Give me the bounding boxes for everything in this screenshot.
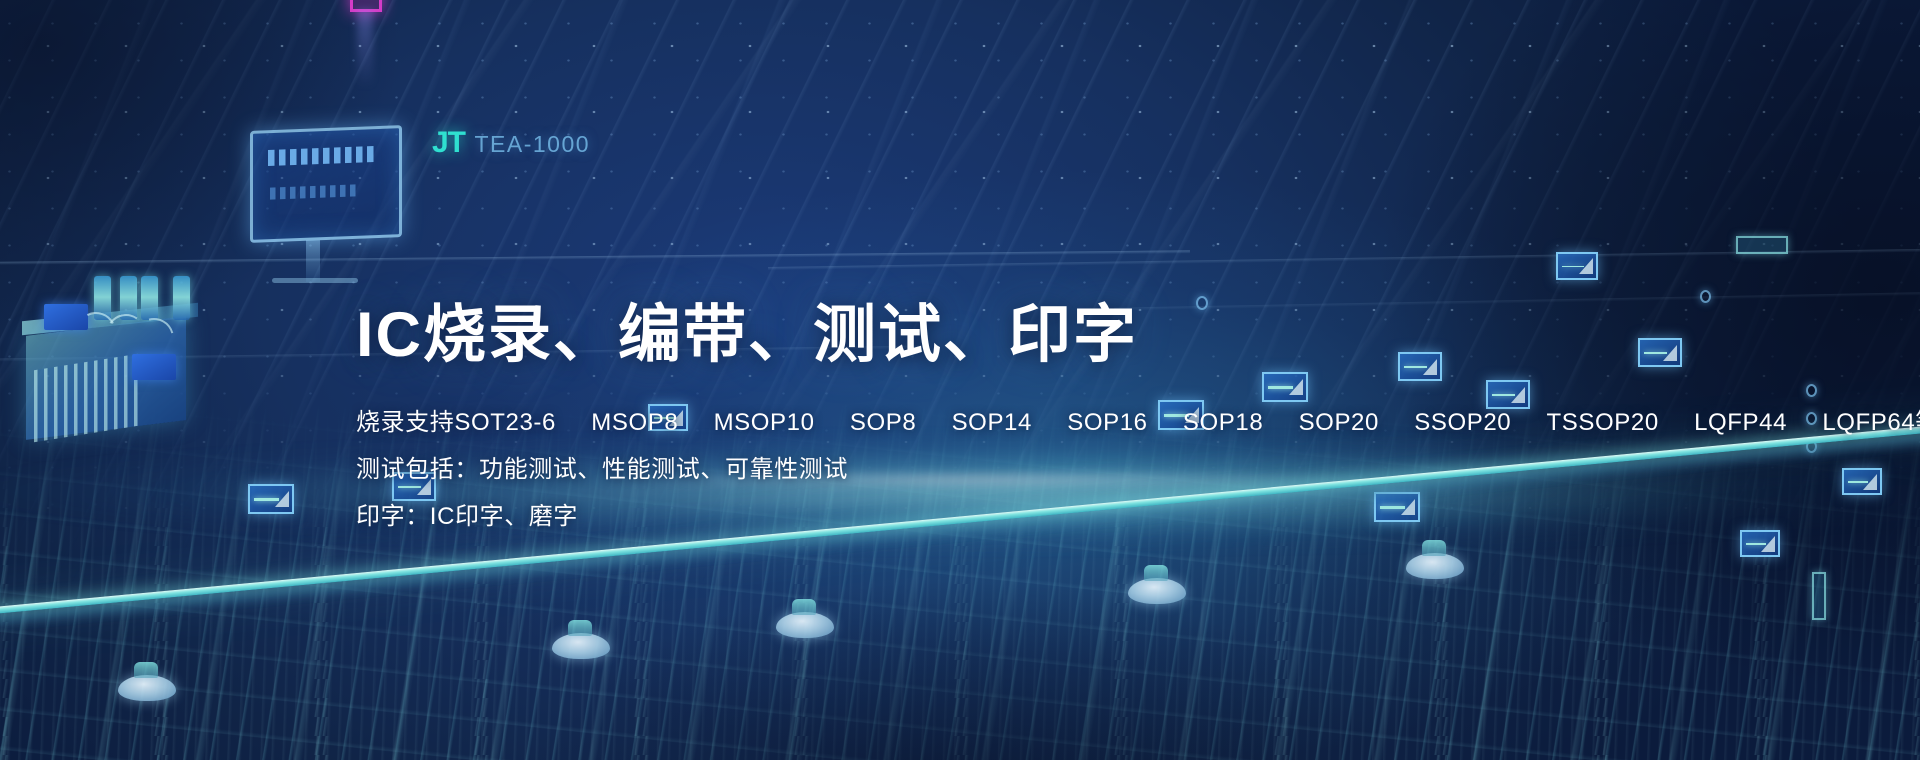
floating-screen-icon [248, 484, 294, 514]
package-lqfp44: LQFP44 [1694, 411, 1787, 435]
package-msop8: MSOP8 [591, 411, 678, 435]
package-sop16: SOP16 [1067, 411, 1147, 435]
monitor-screen-bars [268, 146, 374, 166]
machine-hose [127, 311, 182, 366]
floating-screen-icon [1842, 468, 1882, 495]
machine-module-block [132, 354, 176, 380]
floating-screen-icon [1740, 530, 1780, 557]
machine-fins [34, 354, 138, 442]
industrial-machine-graphic [8, 268, 216, 456]
subline-testing-scope: 测试包括：功能测试、性能测试、可靠性测试 [356, 458, 1616, 482]
package-msop10: MSOP10 [714, 411, 815, 435]
machine-module-block [44, 304, 88, 330]
magenta-chip-icon [350, 0, 382, 12]
package-sop18: SOP18 [1183, 411, 1263, 435]
plane-edge-line [768, 249, 1920, 270]
package-ssop20: SSOP20 [1414, 411, 1511, 435]
package-sop14: SOP14 [952, 411, 1032, 435]
monitor-stand [306, 240, 320, 282]
rail-carriage [118, 675, 176, 701]
machine-hose [103, 311, 149, 357]
rail-carriage [552, 633, 610, 659]
rail-carriage [1128, 578, 1186, 604]
floating-screen-icon [1638, 338, 1682, 367]
package-sop8: SOP8 [850, 411, 916, 435]
brand-model-text: TEA-1000 [474, 131, 590, 157]
machine-cylinder-icon [94, 276, 111, 320]
light-beam-graphic [357, 10, 373, 88]
monitor-base [272, 278, 358, 283]
floating-screen-icon [1556, 252, 1598, 280]
rail-carriage [776, 612, 834, 638]
subline-burn-in-packages: 烧录支持SOT23-6 MSOP8 MSOP10 SOP8 SOP14 SOP1… [356, 411, 1616, 435]
page-title: IC烧录、编带、测试、印字 [356, 300, 1616, 371]
monitor-frame [250, 125, 402, 243]
machine-cylinder-icon [141, 276, 158, 320]
brand-logo-text: JT [432, 126, 465, 159]
node-ring-icon [1700, 290, 1711, 303]
bar-chip-icon [1736, 236, 1788, 254]
service-detail-list: 烧录支持SOT23-6 MSOP8 MSOP10 SOP8 SOP14 SOP1… [356, 411, 1616, 529]
package-sop20: SOP20 [1299, 411, 1379, 435]
node-ring-icon [1806, 384, 1817, 397]
subline-marking-scope: 印字：IC印字、磨字 [356, 505, 1616, 529]
package-lqfp64: LQFP64等 [1822, 411, 1920, 435]
hero-banner: JT TEA-1000 IC烧录、编带、测试、印字 烧录支持SOT23-6 MS… [0, 0, 1920, 760]
plane-edge-line [0, 250, 1190, 264]
monitor-screen-bars [270, 184, 356, 199]
wireframe-monitor-graphic [250, 128, 402, 240]
bar-chip-icon [1812, 572, 1826, 620]
machine-cylinder-icon [173, 276, 190, 320]
machine-body [26, 316, 186, 440]
machine-hose [71, 307, 121, 357]
machine-cylinder-icon [120, 276, 137, 320]
burn-in-prefix: 烧录支持SOT23-6 [356, 411, 556, 435]
equipment-brand-lockup: JT TEA-1000 [432, 126, 590, 160]
rail-carriage [1406, 553, 1464, 579]
package-tssop20: TSSOP20 [1547, 411, 1659, 435]
node-ring-icon [1806, 412, 1817, 425]
machine-top-plate [22, 303, 198, 335]
node-ring-icon [1806, 440, 1817, 453]
hero-text-block: IC烧录、编带、测试、印字 烧录支持SOT23-6 MSOP8 MSOP10 S… [356, 300, 1616, 552]
